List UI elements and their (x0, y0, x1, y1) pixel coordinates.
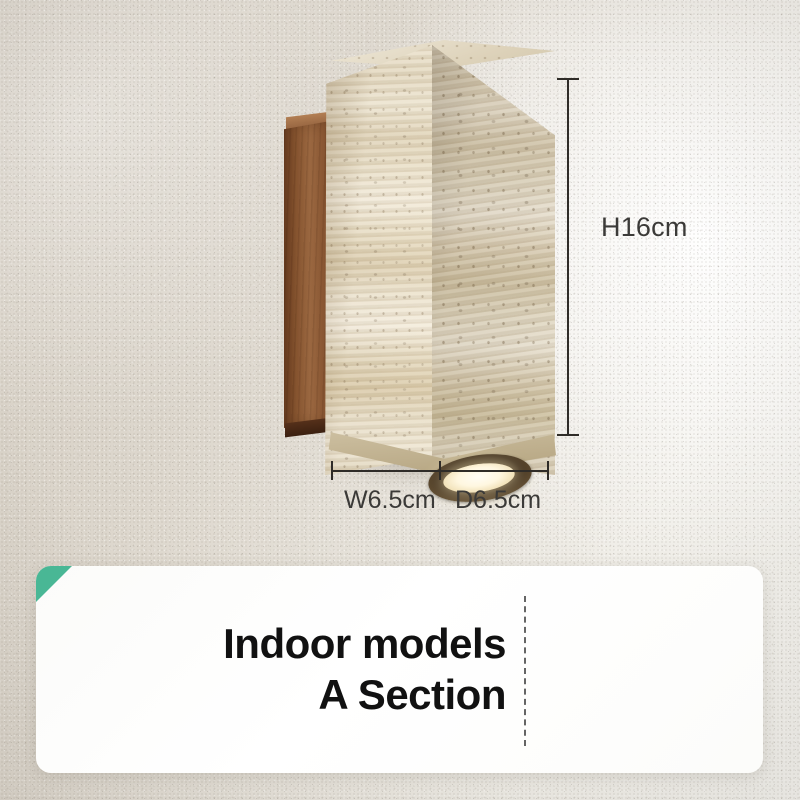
travertine-side-shading (432, 45, 555, 475)
travertine-front-shading (323, 45, 433, 475)
dimension-tick-center (439, 461, 441, 480)
wall-lamp-fixture (280, 40, 560, 490)
card-title-line-2: A Section (76, 669, 506, 720)
height-dimension-line (567, 78, 569, 436)
travertine-front-face (323, 45, 433, 475)
card-dashed-divider (524, 596, 526, 746)
card-title-line-1: Indoor models (76, 618, 506, 669)
caption-card: Indoor models A Section (36, 566, 763, 773)
dimension-tick-right (547, 461, 549, 480)
height-dimension-label: H16cm (601, 212, 688, 243)
dimension-tick-left (331, 461, 333, 480)
card-title: Indoor models A Section (76, 618, 506, 720)
travertine-side-face (432, 45, 555, 475)
width-dimension-label: W6.5cm (344, 486, 436, 515)
depth-dimension-label: D6.5cm (455, 486, 541, 515)
product-image-canvas: H16cm W6.5cm D6.5cm Indoor models A Sect… (0, 0, 800, 800)
corner-accent-triangle-icon (36, 566, 72, 602)
height-dimension-cap-bottom (557, 434, 579, 436)
